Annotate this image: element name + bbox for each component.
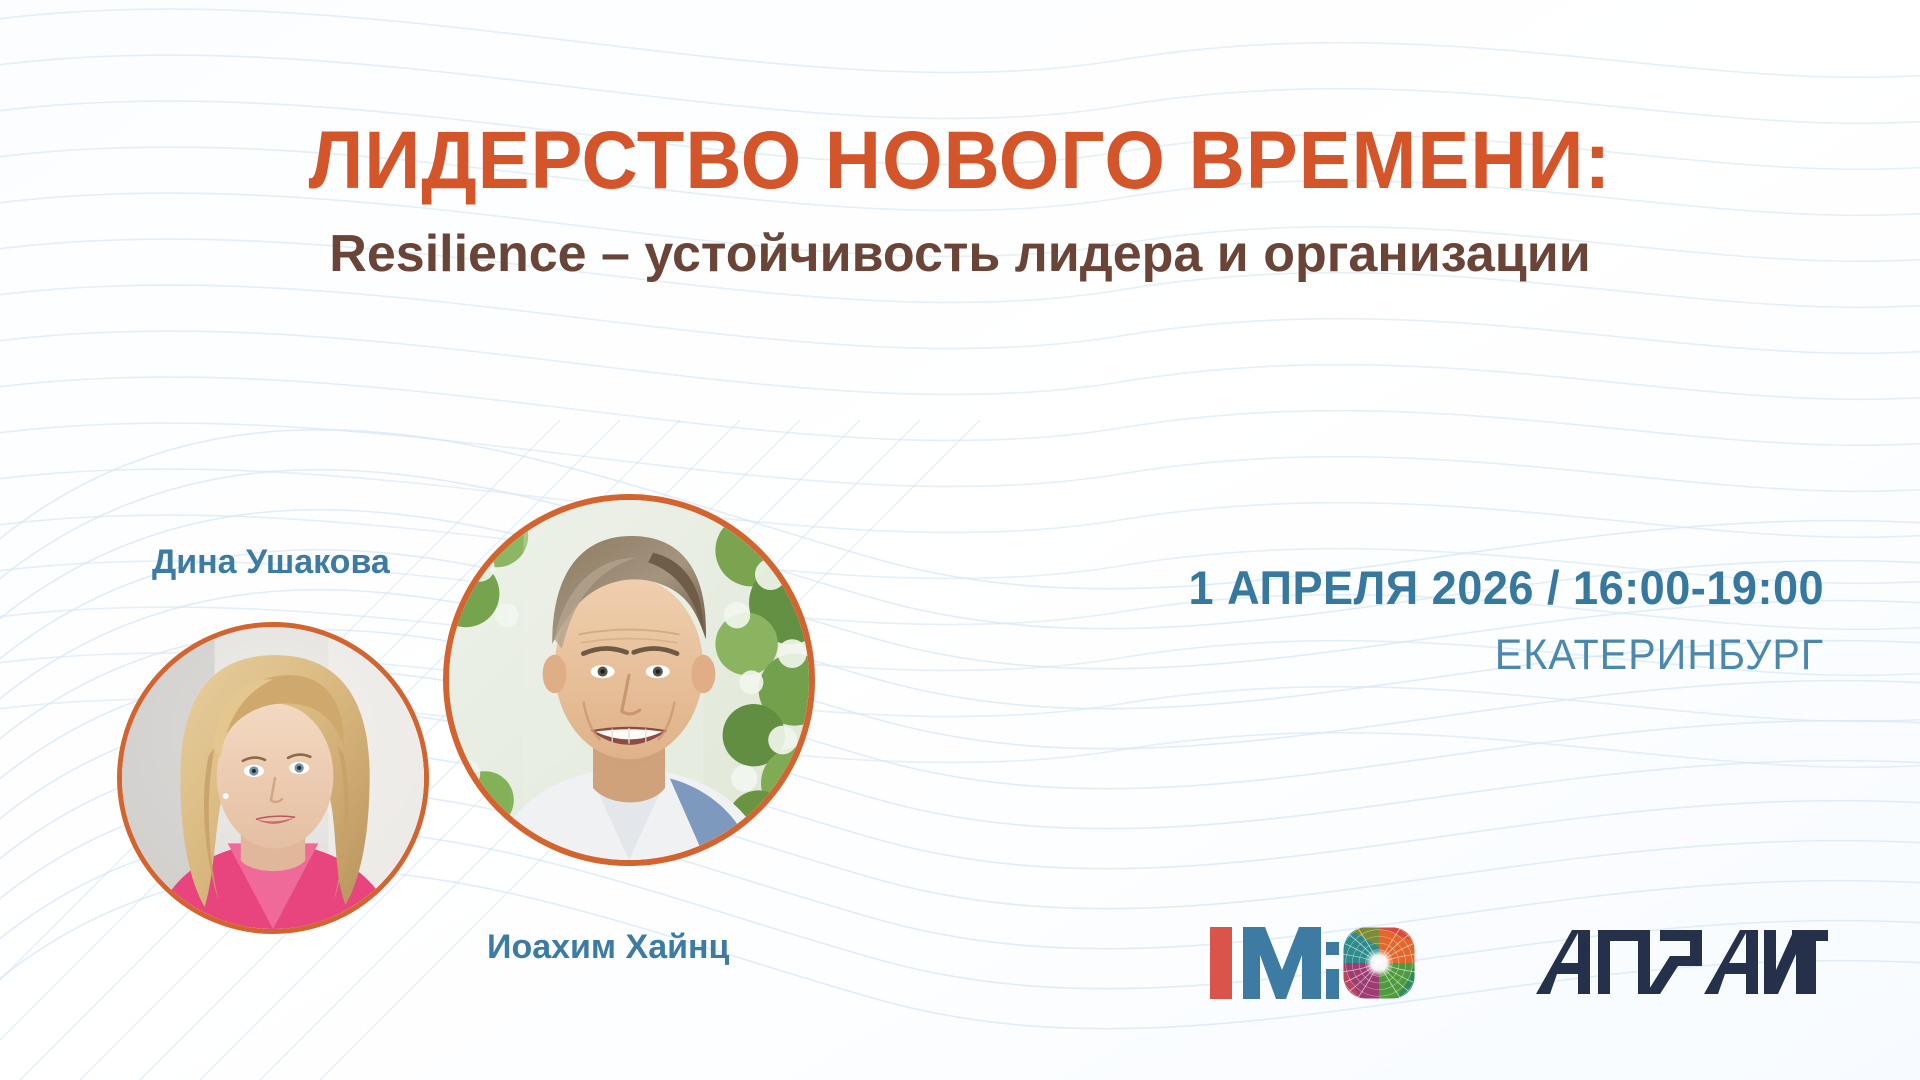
page-subtitle: Resilience – устойчивость лидера и орган…	[0, 228, 1920, 280]
imo-letter-i	[1210, 927, 1232, 999]
avatar-dina	[122, 627, 424, 929]
imo-accent-marks	[1326, 942, 1339, 999]
imo-letter-m	[1243, 927, 1321, 999]
speaker-photo-dina	[117, 622, 429, 934]
speaker-name-joachim: Иоахим Хайнц	[487, 928, 729, 967]
event-info-block: 1 АПРЕЛЯ 2026 / 16:00-19:00 ЕКАТЕРИНБУРГ	[1162, 560, 1824, 680]
title-block: ЛИДЕРСТВО НОВОГО ВРЕМЕНИ: Resilience – у…	[0, 120, 1920, 280]
event-poster: ЛИДЕРСТВО НОВОГО ВРЕМЕНИ: Resilience – у…	[0, 0, 1920, 1080]
event-city: ЕКАТЕРИНБУРГ	[1188, 631, 1824, 680]
avatar-joachim	[449, 500, 809, 860]
speaker-photo-joachim	[443, 494, 815, 866]
page-title: ЛИДЕРСТВО НОВОГО ВРЕМЕНИ:	[48, 120, 1872, 202]
logo-aprait	[1536, 930, 1828, 996]
imo-spiral-icon	[1339, 924, 1419, 1002]
aprait-letters	[1536, 930, 1828, 994]
logo-row	[1210, 926, 1828, 1000]
aprait-wordmark	[1536, 930, 1828, 996]
event-date-time: 1 АПРЕЛЯ 2026 / 16:00-19:00	[1188, 560, 1824, 615]
imo-logo-mark	[1210, 924, 1428, 1002]
logo-imo	[1210, 926, 1428, 1000]
speaker-name-dina: Дина Ушакова	[152, 543, 390, 582]
